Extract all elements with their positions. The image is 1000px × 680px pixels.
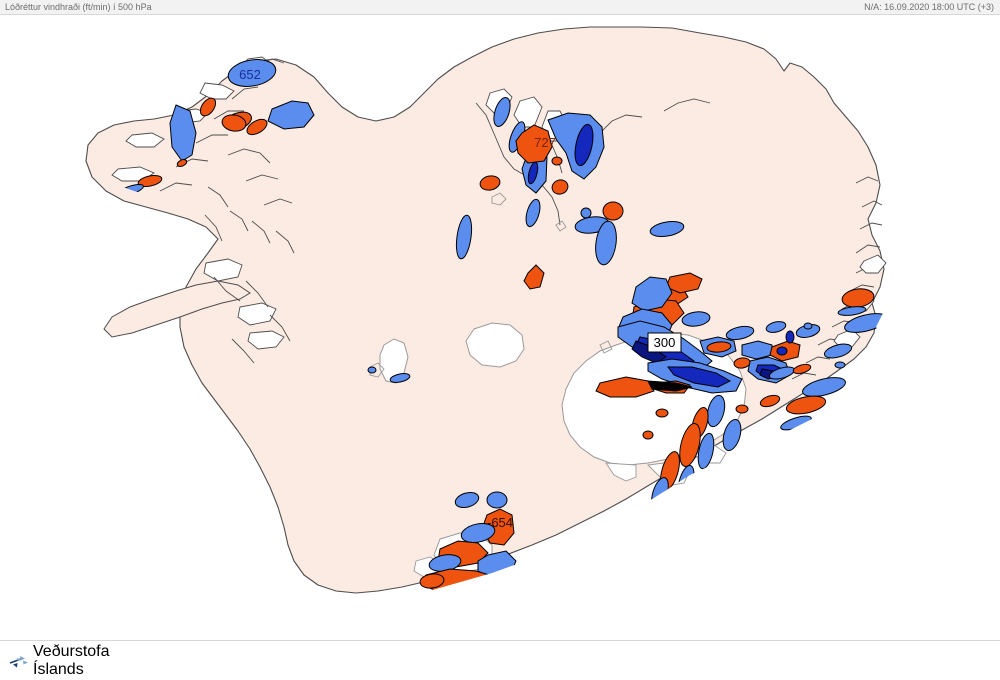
logo-line-1: Veðurstofa [33, 643, 110, 661]
wind-barb-icon [8, 652, 30, 670]
iceland-map[interactable]: 652 727 300 -654 [0, 15, 1000, 640]
contour-label-300: 300 [648, 333, 681, 352]
weather-map-page: Lóðréttur vindhraði (ft/min) í 500 hPa N… [0, 0, 1000, 680]
contour-label-652: 652 [239, 67, 261, 82]
footer-bar: Veðurstofa Íslands Mið. 16 Sep. 21:00 -9… [0, 640, 1000, 680]
contour-label-654: -654 [487, 515, 513, 530]
contour-label-727: 727 [534, 135, 556, 150]
map-canvas[interactable]: 652 727 300 -654 [0, 15, 1000, 640]
logo-wordmark: Veðurstofa Íslands [33, 643, 110, 679]
svg-text:300: 300 [654, 335, 676, 350]
page-title: Lóðréttur vindhraði (ft/min) í 500 hPa [5, 1, 152, 13]
logo-line-2: Íslands [33, 661, 110, 679]
model-run-timestamp: N/A: 16.09.2020 18:00 UTC (+3) [864, 1, 994, 13]
header-bar: Lóðréttur vindhraði (ft/min) í 500 hPa N… [0, 0, 1000, 15]
vedurstofa-logo[interactable]: Veðurstofa Íslands [8, 649, 78, 673]
